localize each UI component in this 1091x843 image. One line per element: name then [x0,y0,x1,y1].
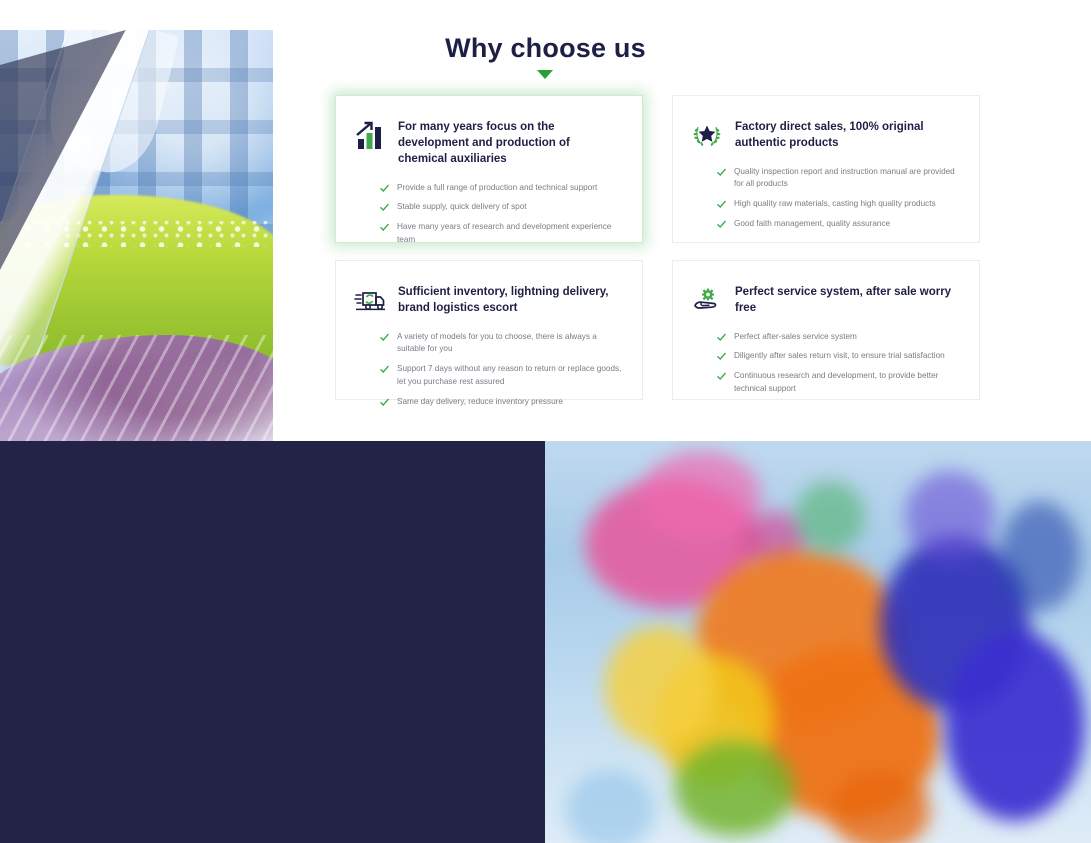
bullet-text: Same day delivery, reduce inventory pres… [397,396,563,409]
list-item: Provide a full range of production and t… [380,182,622,195]
bullet-text: Have many years of research and developm… [397,221,622,246]
bar-chart-growth-icon [354,119,386,151]
list-item: High quality raw materials, casting high… [717,198,959,211]
bullet-text: A variety of models for you to choose, t… [397,331,622,356]
laurel-wreath-star-icon [691,119,723,151]
feature-card-2[interactable]: Factory direct sales, 100% original auth… [672,95,980,243]
list-item: Have many years of research and developm… [380,221,622,246]
check-icon [717,220,726,229]
feature-card-title: Sufficient inventory, lightning delivery… [398,283,622,317]
feature-card-title: Perfect service system, after sale worry… [735,283,959,317]
hand-gear-service-icon [691,284,723,316]
feature-card-1[interactable]: For many years focus on the development … [335,95,643,243]
list-item: Diligently after sales return visit, to … [717,350,959,363]
feature-card-3[interactable]: Sufficient inventory, lightning delivery… [335,260,643,400]
feature-bullet-list: Provide a full range of production and t… [336,168,642,247]
lab-photo [0,30,273,485]
feature-card-title: Factory direct sales, 100% original auth… [735,118,959,152]
list-item: Continuous research and development, to … [717,370,959,395]
page-title: Why choose us [0,33,1091,64]
list-item: Good faith management, quality assurance [717,218,959,231]
bullet-text: Continuous research and development, to … [734,370,959,395]
bullet-text: Good faith management, quality assurance [734,218,890,231]
check-icon [717,352,726,361]
landing-page: Why choose us For many years focus on th… [0,0,1091,843]
bullet-text: Perfect after-sales service system [734,331,857,344]
check-icon [717,168,726,177]
list-item: Same day delivery, reduce inventory pres… [380,396,622,409]
ink-in-water-image [545,441,1091,843]
feature-bullet-list: Perfect after-sales service system Dilig… [673,317,979,396]
list-item: A variety of models for you to choose, t… [380,331,622,356]
delivery-truck-icon [354,284,386,316]
triangle-down-icon [537,70,553,79]
check-icon [380,223,389,232]
list-item: Perfect after-sales service system [717,331,959,344]
list-item: Stable supply, quick delivery of spot [380,201,622,214]
list-item: Quality inspection report and instructio… [717,166,959,191]
check-icon [380,203,389,212]
bullet-text: Support 7 days without any reason to ret… [397,363,622,388]
check-icon [717,333,726,342]
feature-bullet-list: A variety of models for you to choose, t… [336,317,642,409]
check-icon [380,184,389,193]
list-item: Support 7 days without any reason to ret… [380,363,622,388]
bullet-text: High quality raw materials, casting high… [734,198,936,211]
check-icon [717,372,726,381]
check-icon [380,398,389,407]
check-icon [717,200,726,209]
feature-card-title: For many years focus on the development … [398,118,622,168]
hero-banner: Find the coating ink additives for your … [0,441,1091,843]
bullet-text: Diligently after sales return visit, to … [734,350,945,363]
bullet-text: Provide a full range of production and t… [397,182,597,195]
bullet-text: Quality inspection report and instructio… [734,166,959,191]
check-icon [380,365,389,374]
check-icon [380,333,389,342]
bullet-text: Stable supply, quick delivery of spot [397,201,527,214]
feature-bullet-list: Quality inspection report and instructio… [673,152,979,231]
feature-card-4[interactable]: Perfect service system, after sale worry… [672,260,980,400]
